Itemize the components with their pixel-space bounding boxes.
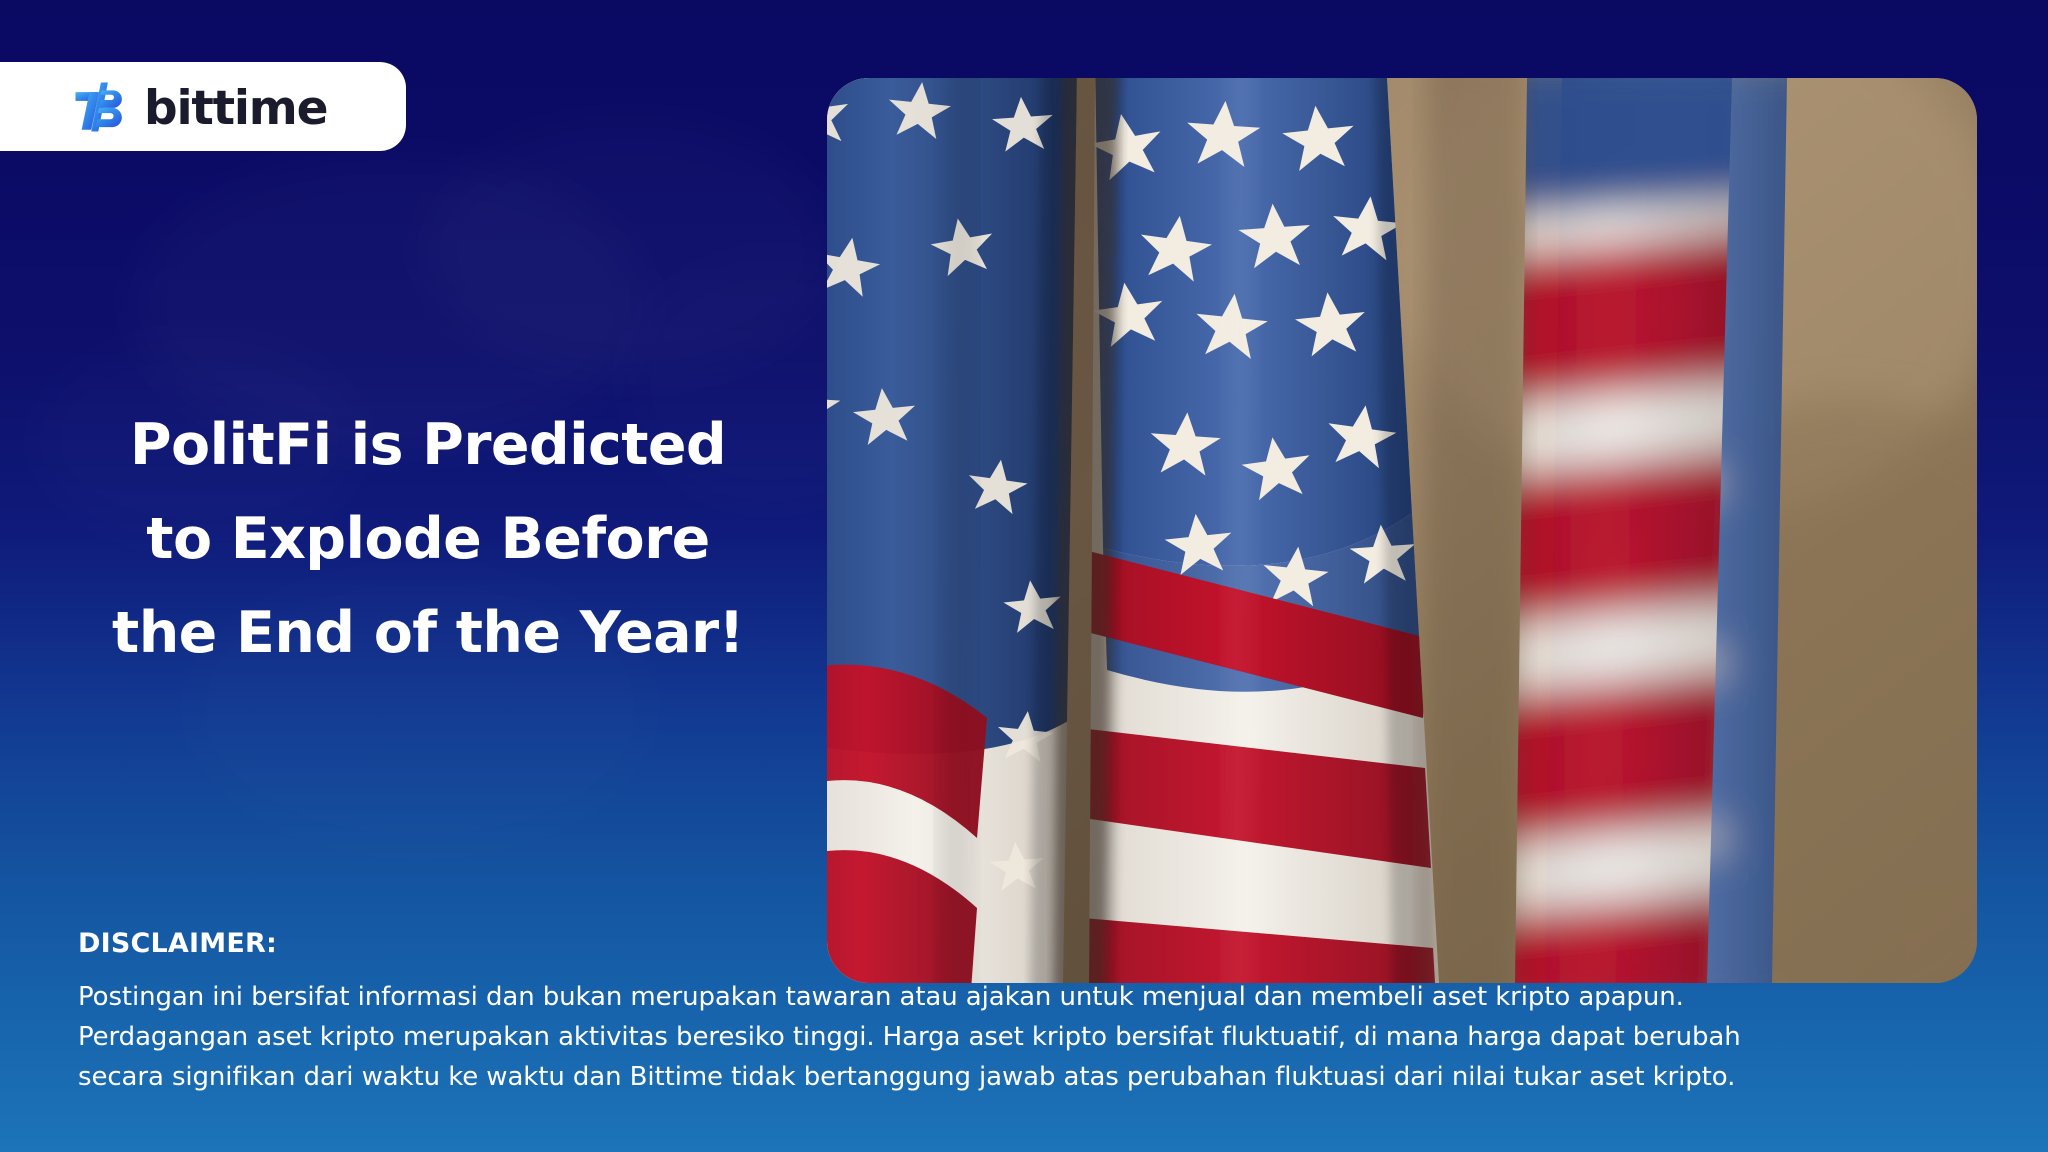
disclaimer-line-1: Postingan ini bersifat informasi dan buk… xyxy=(78,977,1978,1017)
headline: PolitFi is Predicted to Explode Before t… xyxy=(88,398,768,680)
disclaimer-block: DISCLAIMER: Postingan ini bersifat infor… xyxy=(78,928,1978,1097)
flags-illustration xyxy=(827,78,1977,983)
brand-wordmark: bittime xyxy=(144,85,327,132)
disclaimer-title: DISCLAIMER: xyxy=(78,928,1978,959)
headline-line-2: to Explode Before xyxy=(88,492,768,586)
background-blob xyxy=(420,120,840,380)
brand-logo-badge[interactable]: bittime xyxy=(0,62,406,151)
disclaimer-line-3: secara signifikan dari waktu ke waktu da… xyxy=(78,1057,1978,1097)
american-flags-photo xyxy=(827,78,1977,983)
tb-monogram-icon xyxy=(72,79,128,135)
headline-line-1: PolitFi is Predicted xyxy=(88,398,768,492)
promo-banner: bittime PolitFi is Predicted to Explode … xyxy=(0,0,2048,1152)
headline-line-3: the End of the Year! xyxy=(88,586,768,680)
disclaimer-line-2: Perdagangan aset kripto merupakan aktivi… xyxy=(78,1017,1978,1057)
